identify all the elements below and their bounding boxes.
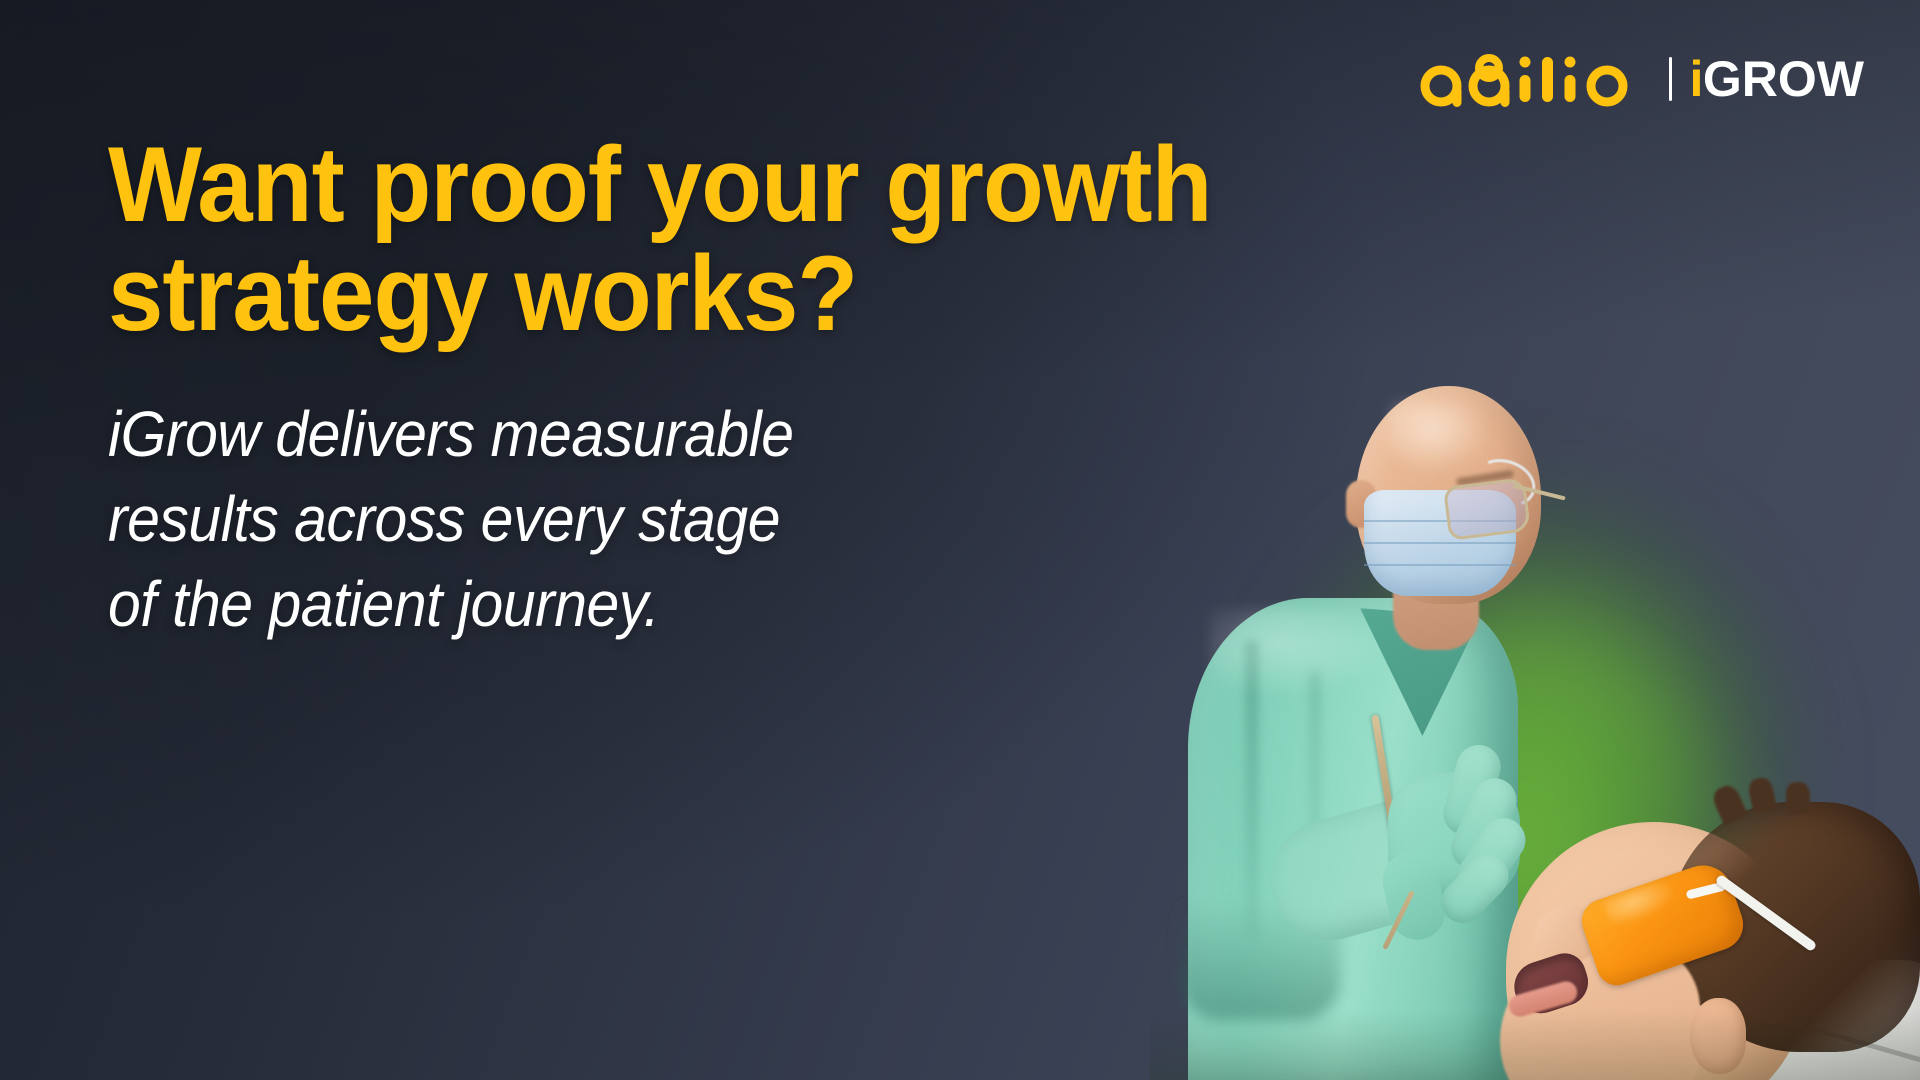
logo-divider (1669, 57, 1672, 101)
copy-block: Want proof your growth strategy works? i… (108, 130, 1228, 648)
patient-ear (1690, 998, 1746, 1074)
photo-figure (1150, 340, 1920, 1080)
subheading: iGrow delivers measurable results across… (108, 392, 1138, 647)
subheading-line-2: results across every stage (108, 477, 1138, 562)
subheading-line-3: of the patient journey. (108, 562, 1138, 647)
headline-line-1: Want proof your growth (108, 130, 1150, 239)
shoulder-highlight (1210, 608, 1390, 698)
marketing-banner: i GROW Want proof your growth strategy w… (0, 0, 1920, 1080)
headline: Want proof your growth strategy works? (108, 130, 1150, 348)
headline-line-2: strategy works? (108, 239, 1150, 348)
patient-hair-spike (1785, 781, 1811, 815)
igrow-grow: GROW (1703, 54, 1864, 104)
head-highlight (1390, 402, 1488, 472)
agilio-igrow-logo[interactable]: i GROW (1415, 48, 1865, 110)
agilio-wordmark-icon (1415, 49, 1651, 109)
mask-pleat (1364, 542, 1516, 544)
igrow-wordmark: i GROW (1690, 54, 1865, 104)
mask-pleat (1364, 564, 1516, 566)
subheading-line-1: iGrow delivers measurable (108, 392, 1138, 477)
igrow-i: i (1690, 54, 1703, 104)
dentist-patient-photo (1150, 340, 1920, 1080)
